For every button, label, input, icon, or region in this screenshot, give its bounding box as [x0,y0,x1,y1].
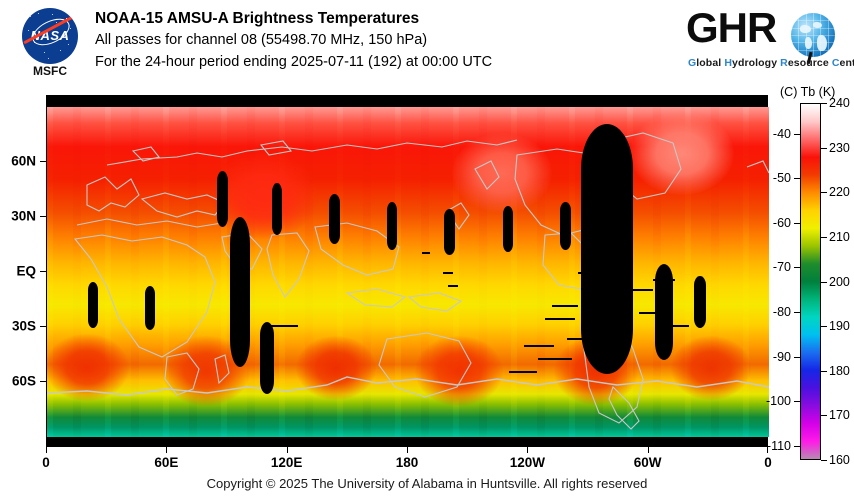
ghrc-tagline-part: lobal [696,57,724,69]
colorbar-tick-kelvin [821,371,827,372]
subtitle-period: For the 24-hour period ending 2025-07-11… [95,51,492,73]
globe-parallel [791,35,835,36]
globe-landmass [817,35,827,51]
colorbar-gradient [801,104,820,459]
colorbar [800,103,821,460]
colorbar-title: (C) Tb (K) [780,85,835,99]
scanline-dropout [669,325,689,327]
colorbar-label-kelvin: 180 [829,364,850,378]
copyright-notice: Copyright © 2025 The University of Alaba… [0,476,854,491]
x-axis-tick [287,447,288,453]
data-gap-swath [387,202,397,250]
scanline-dropout [443,272,453,274]
globe-parallel [791,28,835,29]
title-block: NOAA-15 AMSU-A Brightness Temperatures A… [95,8,492,73]
y-axis-label: 60S [12,374,36,389]
globe-landmass [800,25,811,33]
y-axis-tick [40,271,46,272]
nasa-star [52,14,53,15]
data-gap-swath [145,286,155,330]
ghrc-tagline-part: ydrology [732,57,780,69]
ghrc-globe-icon [791,13,835,57]
x-axis-label: 0 [764,455,772,470]
scanline-dropout [592,292,632,294]
y-axis-label: 30S [12,319,36,334]
colorbar-label-celsius: -60 [773,216,791,230]
globe-parallel [791,42,835,43]
page-title: NOAA-15 AMSU-A Brightness Temperatures [95,8,492,29]
colorbar-tick-kelvin [821,460,827,461]
data-gap-swath [581,124,633,374]
colorbar-label-kelvin: 170 [829,408,850,422]
colorbar-tick-kelvin [821,415,827,416]
ghrc-tagline-part: esource [788,57,832,69]
y-axis-label: 30N [11,209,36,224]
data-gap-swath [272,183,282,235]
scanline-dropout [585,282,615,284]
y-axis-label: EQ [16,264,36,279]
colorbar-label-kelvin: 160 [829,453,850,467]
scanline-dropout [578,272,612,274]
x-axis-tick [166,447,167,453]
colorbar-tick-kelvin [821,326,827,327]
data-gap-swath [88,282,98,328]
y-axis-label: 60N [11,154,36,169]
colorbar-label-kelvin: 240 [829,96,850,110]
x-axis-label: 120E [271,455,303,470]
colorbar-label-celsius: -50 [773,171,791,185]
map-plot-frame [46,95,768,447]
nasa-star [44,52,45,53]
colorbar-tick-celsius [794,446,800,447]
ghrc-logo: GHR Global Hydrology Resource Center [686,5,846,77]
ghrc-tagline-part: H [724,57,732,69]
nasa-star [60,50,61,51]
x-axis-tick [648,447,649,453]
colorbar-tick-celsius [794,312,800,313]
data-gap-swath [560,202,571,250]
ghrc-tagline-part: R [780,57,788,69]
nasa-star [68,44,69,45]
colorbar-label-kelvin: 230 [829,141,850,155]
ghrc-tagline-part: enter [840,57,854,69]
nasa-star [30,16,31,17]
scanline-dropout [524,345,554,347]
colorbar-label-kelvin: 190 [829,319,850,333]
data-gap-swath [694,276,706,328]
scanline-dropout [448,285,458,287]
y-axis-tick [40,161,46,162]
colorbar-label-kelvin: 210 [829,230,850,244]
colorbar-tick-celsius [794,401,800,402]
missing-data-swath-gaps [47,107,769,437]
scanline-dropout [264,325,298,327]
data-gap-swath [503,206,513,252]
brightness-temperature-heatmap [47,107,769,437]
nasa-star [34,42,35,43]
scanline-dropout [639,312,663,314]
scanline-dropout [552,305,578,307]
scanline-dropout [625,289,653,291]
colorbar-label-celsius: -70 [773,260,791,274]
y-axis-tick [40,216,46,217]
data-gap-swath [260,322,274,394]
colorbar-tick-celsius [794,134,800,135]
colorbar-label-celsius: -40 [773,127,791,141]
data-gap-swath [230,217,250,367]
nasa-star [70,28,71,29]
scanline-dropout [567,338,593,340]
colorbar-label-celsius: -100 [766,394,791,408]
globe-parallel [791,50,835,51]
nasa-logo: NASA MSFC [14,6,86,82]
x-axis-label: 180 [396,455,419,470]
globe-landmass [813,22,822,28]
colorbar-tick-kelvin [821,282,827,283]
nasa-star [48,58,49,59]
ghrc-wordmark: GHR [686,5,776,51]
x-axis-label: 60E [154,455,178,470]
x-axis-label: 0 [42,455,50,470]
subtitle-channel: All passes for channel 08 (55498.70 MHz,… [95,29,492,51]
x-axis-tick [407,447,408,453]
data-gap-swath [444,209,455,255]
y-axis-tick [40,381,46,382]
ghrc-tagline: Global Hydrology Resource Center [688,57,854,69]
nasa-star [66,18,67,19]
colorbar-tick-celsius [794,223,800,224]
colorbar-tick-celsius [794,357,800,358]
x-axis-label: 120W [510,455,545,470]
x-axis-tick [527,447,528,453]
x-axis-tick [46,447,47,453]
scanline-dropout [653,279,675,281]
scanline-dropout [538,358,572,360]
data-gap-swath [329,194,340,244]
colorbar-tick-kelvin [821,103,827,104]
colorbar-tick-kelvin [821,237,827,238]
scanline-dropout [596,298,632,300]
colorbar-label-celsius: -90 [773,350,791,364]
colorbar-tick-kelvin [821,192,827,193]
ghrc-tagline-part: C [832,57,840,69]
globe-parallel [791,20,835,21]
colorbar-tick-celsius [794,178,800,179]
x-axis-label: 60W [634,455,662,470]
globe-landmass [805,37,812,49]
scanline-dropout [545,318,575,320]
nasa-star [28,30,29,31]
scanline-dropout [509,371,537,373]
y-axis-tick [40,326,46,327]
colorbar-tick-kelvin [821,148,827,149]
data-gap-swath [217,171,228,227]
nasa-meatball-icon: NASA [22,8,78,64]
colorbar-label-kelvin: 220 [829,185,850,199]
colorbar-label-kelvin: 200 [829,275,850,289]
colorbar-label-celsius: -80 [773,305,791,319]
nasa-star [56,22,57,23]
colorbar-label-celsius: -110 [767,439,791,453]
nasa-star [38,13,39,14]
scanline-dropout [422,252,430,254]
nasa-center-label: MSFC [14,64,86,78]
header: NASA MSFC NOAA-15 AMSU-A Brightness Temp… [0,0,854,88]
colorbar-tick-celsius [794,267,800,268]
